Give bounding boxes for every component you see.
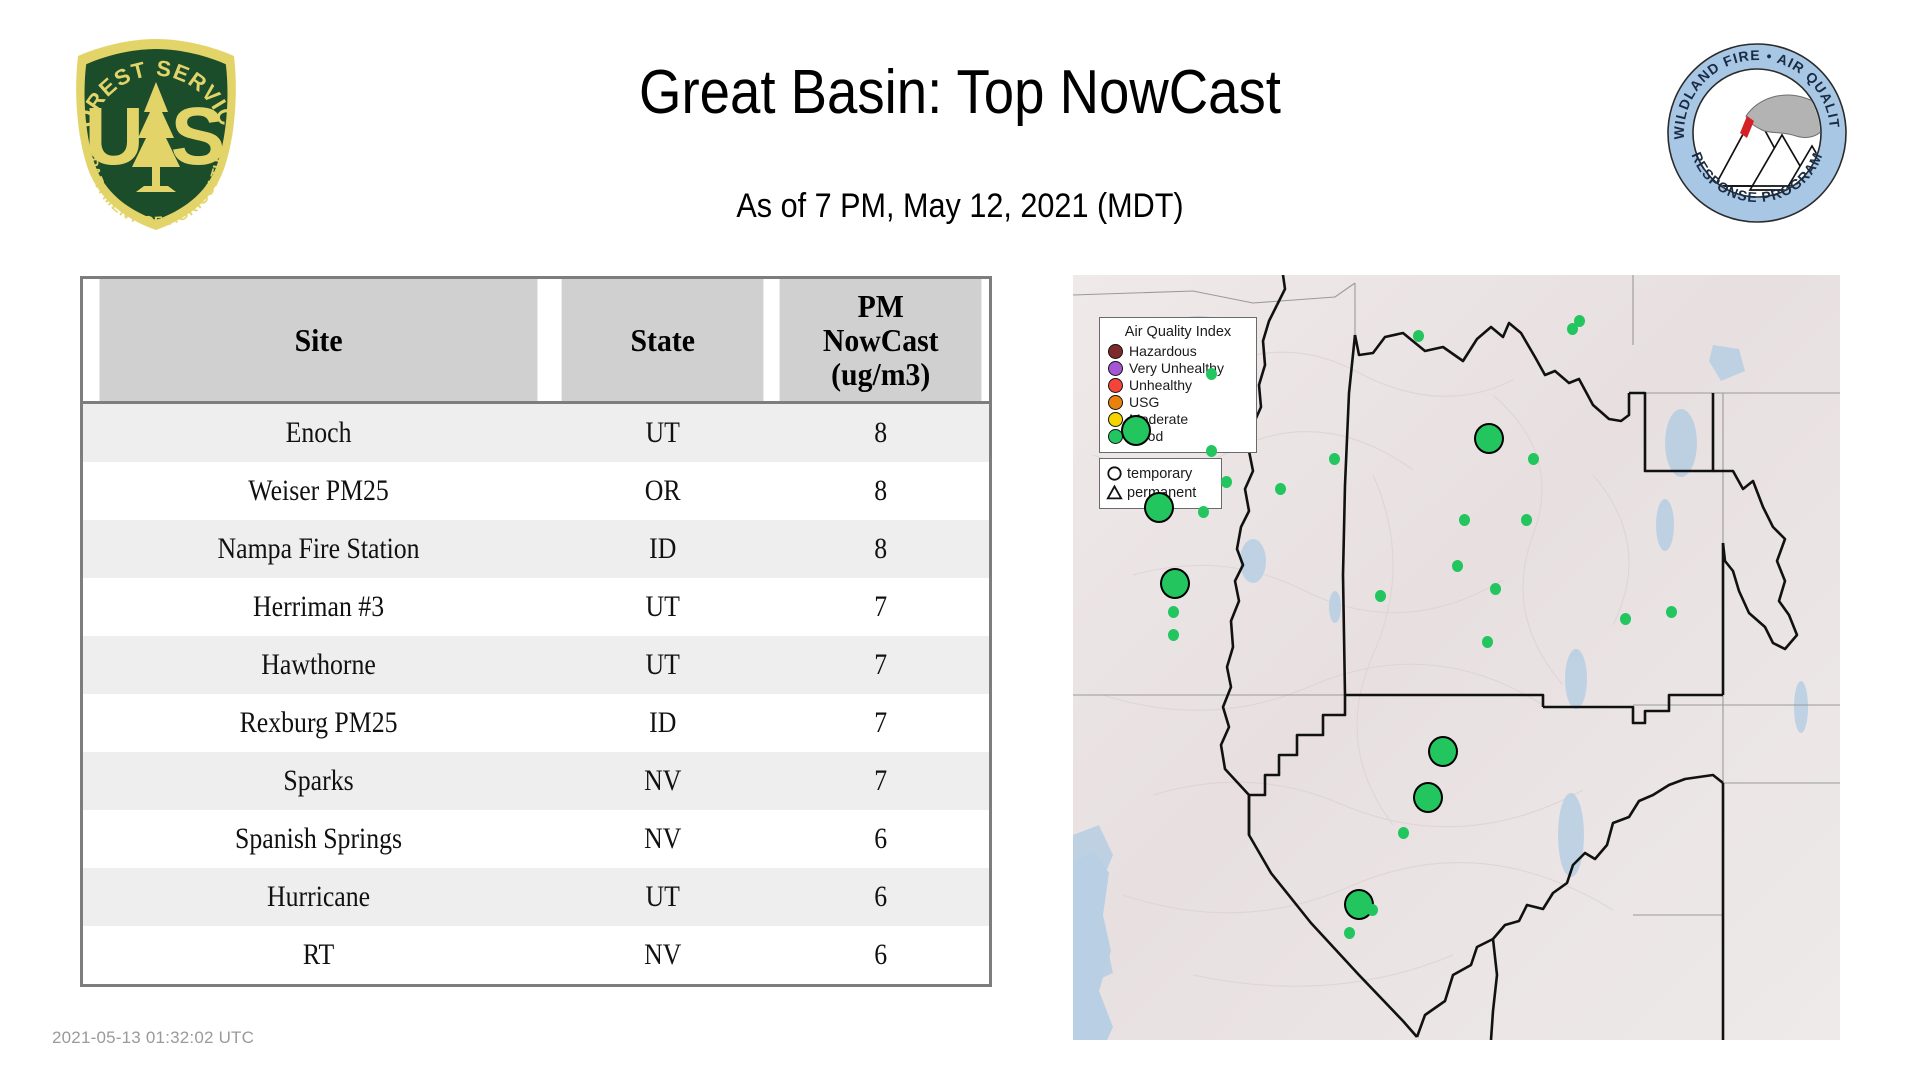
value-cell: 8: [787, 520, 974, 578]
column-header-pm-nowcast: PM NowCast (ug/m3): [779, 279, 981, 403]
pm-header-line2: NowCast: [779, 323, 981, 357]
site-cell: RT: [116, 926, 521, 984]
column-header-site: Site: [99, 279, 537, 403]
table-row: Herriman #3UT7: [83, 578, 989, 636]
value-cell: 6: [787, 810, 974, 868]
wildland-fire-air-quality-response-program-logo: WILDLAND FIRE • AIR QUALITY RESPONSE PRO…: [1662, 38, 1852, 228]
table-row: Rexburg PM25ID7: [83, 694, 989, 752]
aqi-color-swatch-icon: [1108, 344, 1123, 359]
site-cell: Nampa Fire Station: [116, 520, 521, 578]
nowcast-table: Site State PM NowCast (ug/m3) EnochUT8We…: [83, 279, 989, 984]
circle-icon: [1106, 465, 1123, 482]
pm-header-line3: (ug/m3): [779, 357, 981, 391]
monitor-marker-small[interactable]: [1375, 590, 1386, 602]
aqi-legend-row: Hazardous: [1108, 343, 1248, 360]
value-cell: 8: [787, 462, 974, 520]
triangle-icon: [1106, 484, 1123, 501]
table-header-row: Site State PM NowCast (ug/m3): [83, 279, 989, 403]
aqi-legend-row: Unhealthy: [1108, 377, 1248, 394]
page-subtitle: As of 7 PM, May 12, 2021 (MDT): [96, 186, 1824, 226]
aqi-legend-label: USG: [1129, 395, 1159, 410]
value-cell: 7: [787, 694, 974, 752]
state-cell: UT: [569, 578, 756, 636]
state-cell: ID: [569, 520, 756, 578]
site-cell: Hawthorne: [116, 636, 521, 694]
state-cell: UT: [569, 636, 756, 694]
site-cell: Sparks: [116, 752, 521, 810]
monitor-marker-small[interactable]: [1521, 514, 1532, 526]
monitor-marker-small[interactable]: [1221, 476, 1232, 488]
aqi-legend-label: Hazardous: [1129, 344, 1197, 359]
monitor-marker-small[interactable]: [1528, 453, 1539, 465]
monitor-marker-large[interactable]: [1160, 568, 1190, 599]
state-cell: OR: [569, 462, 756, 520]
aqi-color-swatch-icon: [1108, 395, 1123, 410]
state-cell: UT: [569, 868, 756, 926]
state-cell: UT: [569, 403, 756, 463]
legend-label-temporary: temporary: [1127, 466, 1192, 482]
monitor-marker-small[interactable]: [1459, 514, 1470, 526]
state-cell: NV: [569, 752, 756, 810]
generated-timestamp: 2021-05-13 01:32:02 UTC: [52, 1028, 254, 1048]
value-cell: 6: [787, 868, 974, 926]
table-row: SparksNV7: [83, 752, 989, 810]
site-cell: Spanish Springs: [116, 810, 521, 868]
aqi-color-swatch-icon: [1108, 361, 1123, 376]
site-cell: Enoch: [116, 403, 521, 463]
monitor-marker-small[interactable]: [1168, 629, 1179, 641]
column-header-state: State: [562, 279, 764, 403]
value-cell: 7: [787, 636, 974, 694]
monitor-marker-large[interactable]: [1144, 492, 1174, 523]
aqi-legend-row: USG: [1108, 394, 1248, 411]
state-cell: NV: [569, 810, 756, 868]
table-row: Nampa Fire StationID8: [83, 520, 989, 578]
site-cell: Rexburg PM25: [116, 694, 521, 752]
monitor-marker-small[interactable]: [1344, 927, 1355, 939]
aqi-legend-label: Unhealthy: [1129, 378, 1192, 393]
air-quality-map[interactable]: Air Quality Index HazardousVery Unhealth…: [1073, 275, 1840, 1040]
value-cell: 7: [787, 578, 974, 636]
monitor-marker-small[interactable]: [1567, 323, 1578, 335]
monitor-marker-small[interactable]: [1367, 904, 1378, 916]
monitor-marker-small[interactable]: [1206, 445, 1217, 457]
aqi-legend-row: Very Unhealthy: [1108, 360, 1248, 377]
table-body: EnochUT8Weiser PM25OR8Nampa Fire Station…: [83, 403, 989, 985]
value-cell: 6: [787, 926, 974, 984]
monitor-marker-small[interactable]: [1666, 606, 1677, 618]
state-cell: NV: [569, 926, 756, 984]
site-cell: Hurricane: [116, 868, 521, 926]
aqi-legend-title: Air Quality Index: [1108, 324, 1248, 340]
monitor-marker-large[interactable]: [1413, 782, 1443, 813]
legend-row-temporary: temporary: [1106, 464, 1214, 483]
table-row: Weiser PM25OR8: [83, 462, 989, 520]
table-row: HurricaneUT6: [83, 868, 989, 926]
monitor-marker-small[interactable]: [1329, 453, 1340, 465]
pm-header-line1: PM: [779, 289, 981, 323]
table-row: Spanish SpringsNV6: [83, 810, 989, 868]
monitor-marker-small[interactable]: [1452, 560, 1463, 572]
page-title: Great Basin: Top NowCast: [115, 58, 1805, 128]
nowcast-table-container: Site State PM NowCast (ug/m3) EnochUT8We…: [80, 276, 992, 987]
value-cell: 8: [787, 403, 974, 463]
site-cell: Weiser PM25: [116, 462, 521, 520]
value-cell: 7: [787, 752, 974, 810]
monitor-marker-small[interactable]: [1168, 606, 1179, 618]
site-cell: Herriman #3: [116, 578, 521, 636]
state-cell: ID: [569, 694, 756, 752]
monitor-marker-large[interactable]: [1474, 423, 1504, 454]
monitor-marker-small[interactable]: [1490, 583, 1501, 595]
aqi-color-swatch-icon: [1108, 378, 1123, 393]
table-row: EnochUT8: [83, 403, 989, 463]
table-row: RTNV6: [83, 926, 989, 984]
table-row: HawthorneUT7: [83, 636, 989, 694]
